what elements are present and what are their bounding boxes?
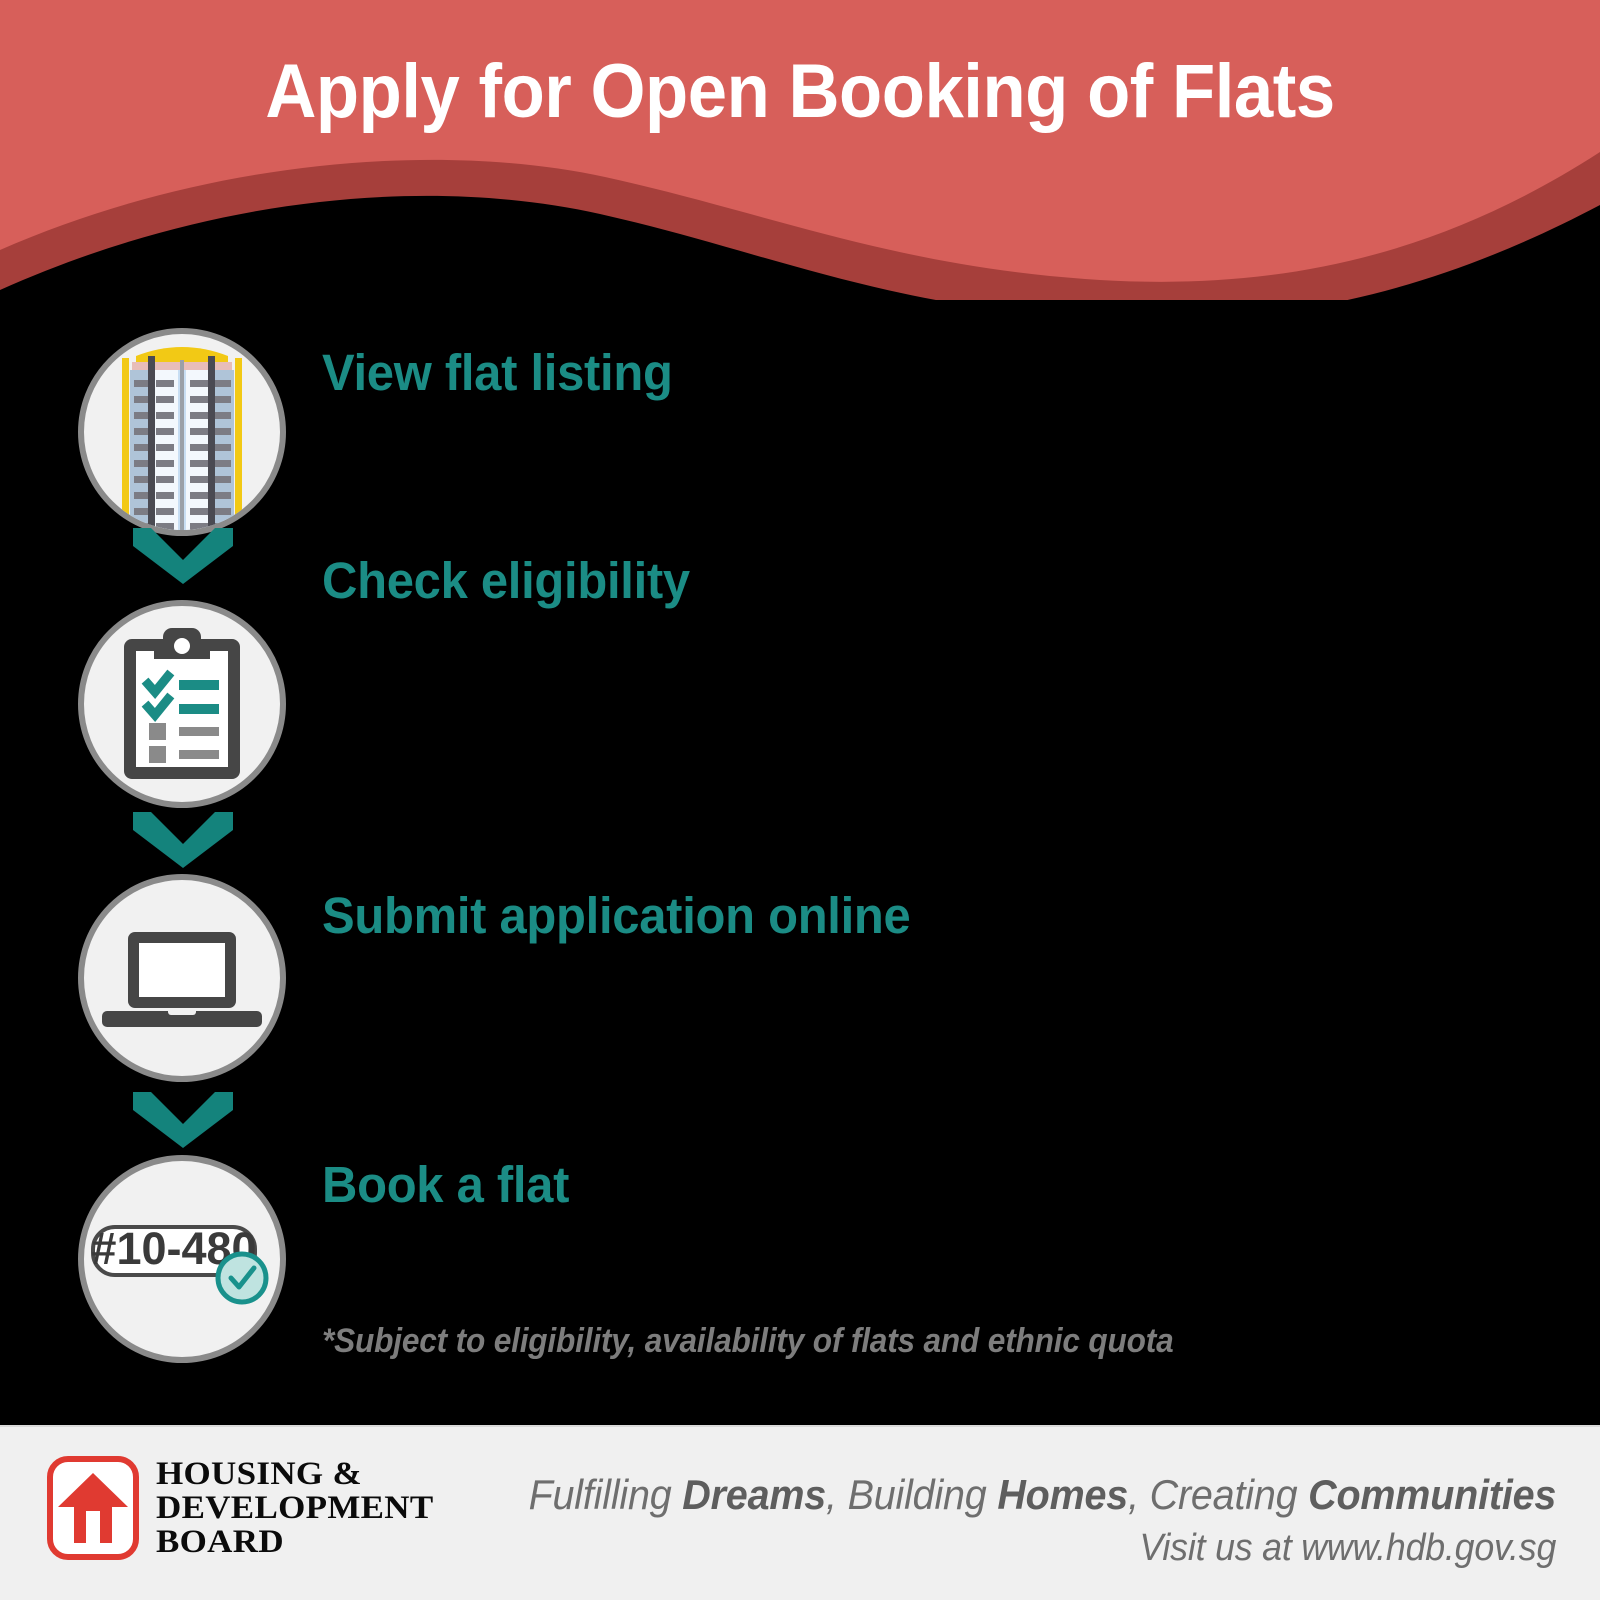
tagline-plain-2: , Building: [826, 1471, 997, 1518]
step-label-3: Submit application online: [322, 886, 911, 945]
hdb-wordmark-line1: HOUSING &: [156, 1457, 434, 1491]
step-icon-circle-2: [78, 600, 286, 808]
footnote-text: *Subject to eligibility, availability of…: [322, 1322, 1174, 1361]
footer-bar: HOUSING & DEVELOPMENT BOARD Fulfilling D…: [0, 1425, 1600, 1600]
chevron-down-icon-3: [133, 1092, 233, 1148]
step-label-2: Check eligibility: [322, 551, 690, 610]
tagline-bold-homes: Homes: [997, 1471, 1128, 1518]
tagline-plain-1: Fulfilling: [528, 1471, 682, 1518]
step-icon-circle-1: [78, 328, 286, 536]
header-wave-band: [0, 0, 1600, 300]
footer-website-line[interactable]: Visit us at www.hdb.gov.sg: [528, 1527, 1556, 1570]
step-icon-circle-3: [78, 874, 286, 1082]
step-label-1: View flat listing: [322, 343, 673, 402]
hdb-wordmark: HOUSING & DEVELOPMENT BOARD: [156, 1457, 434, 1559]
step-icon-circle-4: #10-480: [78, 1155, 286, 1363]
footer-taglines: Fulfilling Dreams, Building Homes, Creat…: [528, 1471, 1556, 1570]
hdb-block-icon: [84, 334, 280, 530]
hdb-wordmark-line3: BOARD: [156, 1525, 434, 1559]
infographic-poster: Apply for Open Booking of Flats: [0, 0, 1600, 1600]
tagline-bold-communities: Communities: [1308, 1471, 1556, 1518]
chevron-down-icon-1: [133, 528, 233, 584]
hdb-logo: HOUSING & DEVELOPMENT BOARD: [46, 1455, 418, 1561]
laptop-icon: [84, 880, 280, 1076]
footer-tagline: Fulfilling Dreams, Building Homes, Creat…: [528, 1471, 1556, 1519]
tagline-plain-3: , Creating: [1128, 1471, 1308, 1518]
hdb-wordmark-line2: DEVELOPMENT: [156, 1491, 434, 1525]
tagline-bold-dreams: Dreams: [682, 1471, 826, 1518]
hdb-house-arrow-icon: [46, 1455, 140, 1561]
page-title: Apply for Open Booking of Flats: [56, 52, 1544, 132]
step-label-4: Book a flat: [322, 1155, 569, 1214]
clipboard-checklist-icon: [84, 606, 280, 802]
unit-number-tag-icon: #10-480: [84, 1161, 280, 1357]
chevron-down-icon-2: [133, 812, 233, 868]
